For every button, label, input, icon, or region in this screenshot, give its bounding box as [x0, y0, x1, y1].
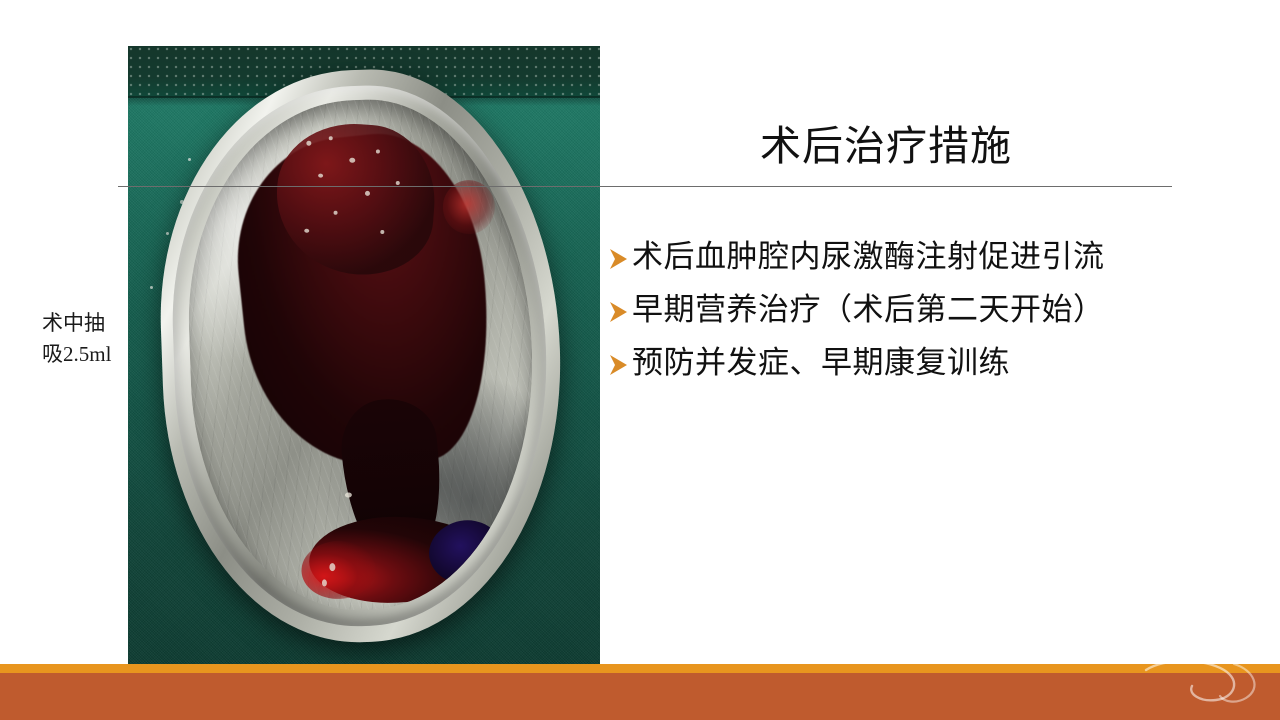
presentation-slide: 术中抽 吸2.5ml 术后治疗措施 术后血肿腔内尿激酶注射促进引流 早期营养治疗… [0, 0, 1280, 720]
arrowhead-bullet-icon [608, 242, 632, 278]
arrowhead-bullet-icon [608, 295, 632, 331]
slide-title-text: 术后治疗措施 [600, 118, 1172, 174]
surgical-photo [128, 46, 600, 672]
clot-bubble [306, 141, 311, 146]
list-item-label: 早期营养治疗（术后第二天开始） [632, 291, 1105, 329]
clot-bubble [333, 211, 337, 215]
clot-bubble [349, 158, 355, 163]
clot-bubble [376, 149, 380, 153]
photo-caption: 术中抽 吸2.5ml [42, 308, 126, 370]
photo-caption-line-2: 吸2.5ml [42, 339, 126, 370]
blood-droplet [329, 563, 335, 571]
drape-speck [150, 286, 153, 289]
list-item-label: 术后血肿腔内尿激酶注射促进引流 [632, 238, 1105, 276]
bullet-list: 术后血肿腔内尿激酶注射促进引流 早期营养治疗（术后第二天开始） 预防并发症、早期… [608, 238, 1208, 397]
footer-watermark-text: brainmed.com [1158, 658, 1234, 665]
photo-caption-line-1: 术中抽 [42, 308, 126, 339]
page-title: 术后治疗措施 [600, 118, 1172, 188]
arrowhead-bullet-icon [608, 348, 632, 384]
title-divider [118, 186, 1172, 187]
clot-bubble [396, 181, 400, 185]
clot-bubble [329, 136, 333, 140]
clot-bubble [380, 230, 384, 234]
list-item: 预防并发症、早期康复训练 [608, 344, 1208, 397]
clot-bubble [304, 229, 309, 233]
kidney-dish [156, 56, 576, 656]
list-item: 术后血肿腔内尿激酶注射促进引流 [608, 238, 1208, 291]
dish-basin [181, 94, 541, 616]
footer-band [0, 673, 1280, 720]
clot-bubble [318, 173, 323, 177]
clot-bubble [365, 191, 370, 196]
footer-accent-stripe [0, 664, 1280, 673]
list-item: 早期营养治疗（术后第二天开始） [608, 291, 1208, 344]
list-item-label: 预防并发症、早期康复训练 [632, 344, 1010, 382]
